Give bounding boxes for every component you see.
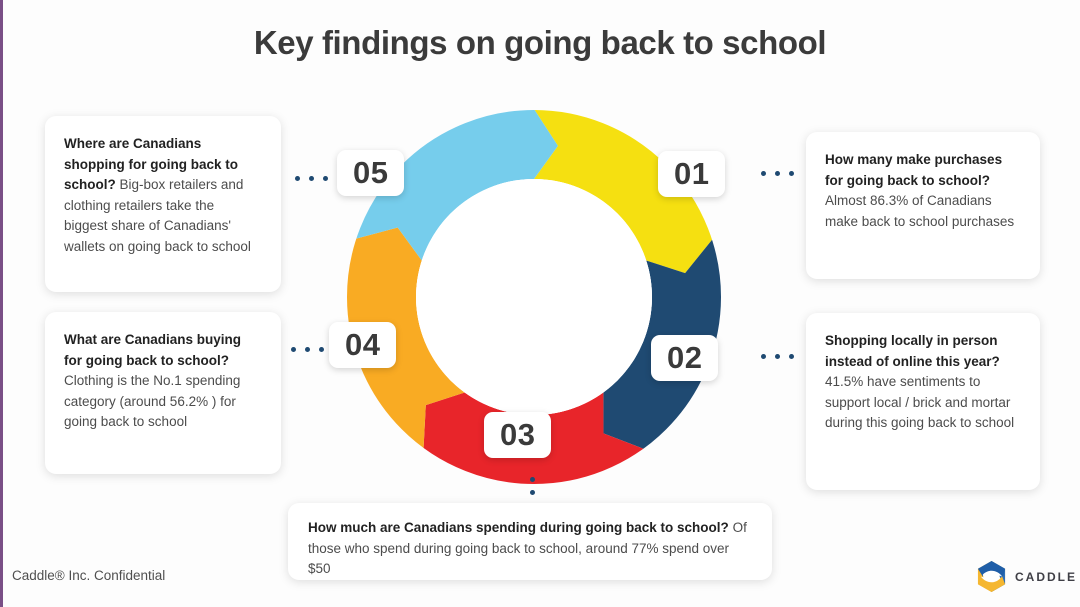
finding-question-01: How many make purchases for going back t… xyxy=(825,152,1002,188)
dot xyxy=(789,171,794,176)
finding-card-05[interactable]: Where are Canadians shopping for going b… xyxy=(45,116,281,292)
finding-question-02: Shopping locally in person instead of on… xyxy=(825,333,1000,369)
badge-05[interactable]: 05 xyxy=(337,150,404,196)
finding-answer-01: Almost 86.3% of Canadians make back to s… xyxy=(825,193,1014,229)
dot xyxy=(291,347,296,352)
caddle-wordmark: CADDLE xyxy=(1015,570,1077,584)
dot xyxy=(305,347,310,352)
finding-card-04[interactable]: What are Canadians buying for going back… xyxy=(45,312,281,474)
badge-04[interactable]: 04 xyxy=(329,322,396,368)
donut-hole xyxy=(416,179,652,415)
caddle-hexagon-icon xyxy=(976,560,1007,593)
connector-dots-03 xyxy=(530,477,535,495)
connector-dots-01 xyxy=(761,171,794,176)
dot xyxy=(775,171,780,176)
badge-02[interactable]: 02 xyxy=(651,335,718,381)
finding-card-01[interactable]: How many make purchases for going back t… xyxy=(806,132,1040,279)
confidential-notice: Caddle® Inc. Confidential xyxy=(12,568,165,583)
connector-dots-05 xyxy=(295,176,328,181)
finding-question-04: What are Canadians buying for going back… xyxy=(64,332,241,368)
dot xyxy=(761,171,766,176)
dot xyxy=(323,176,328,181)
dot xyxy=(761,354,766,359)
finding-answer-04: Clothing is the No.1 spending category (… xyxy=(64,373,240,429)
dot xyxy=(309,176,314,181)
dot xyxy=(775,354,780,359)
connector-dots-04 xyxy=(291,347,324,352)
finding-card-02[interactable]: Shopping locally in person instead of on… xyxy=(806,313,1040,490)
page-title: Key findings on going back to school xyxy=(0,24,1080,62)
left-accent-rule xyxy=(0,0,3,607)
badge-01[interactable]: 01 xyxy=(658,151,725,197)
badge-03[interactable]: 03 xyxy=(484,412,551,458)
dot xyxy=(530,477,535,482)
connector-dots-02 xyxy=(761,354,794,359)
finding-answer-02: 41.5% have sentiments to support local /… xyxy=(825,374,1014,430)
dot xyxy=(319,347,324,352)
dot xyxy=(530,490,535,495)
finding-card-03[interactable]: How much are Canadians spending during g… xyxy=(288,503,772,580)
caddle-logo: CADDLE xyxy=(976,560,1077,593)
dot xyxy=(789,354,794,359)
slide-canvas: Key findings on going back to school 01 … xyxy=(0,0,1080,607)
finding-question-03: How much are Canadians spending during g… xyxy=(308,520,729,535)
dot xyxy=(295,176,300,181)
